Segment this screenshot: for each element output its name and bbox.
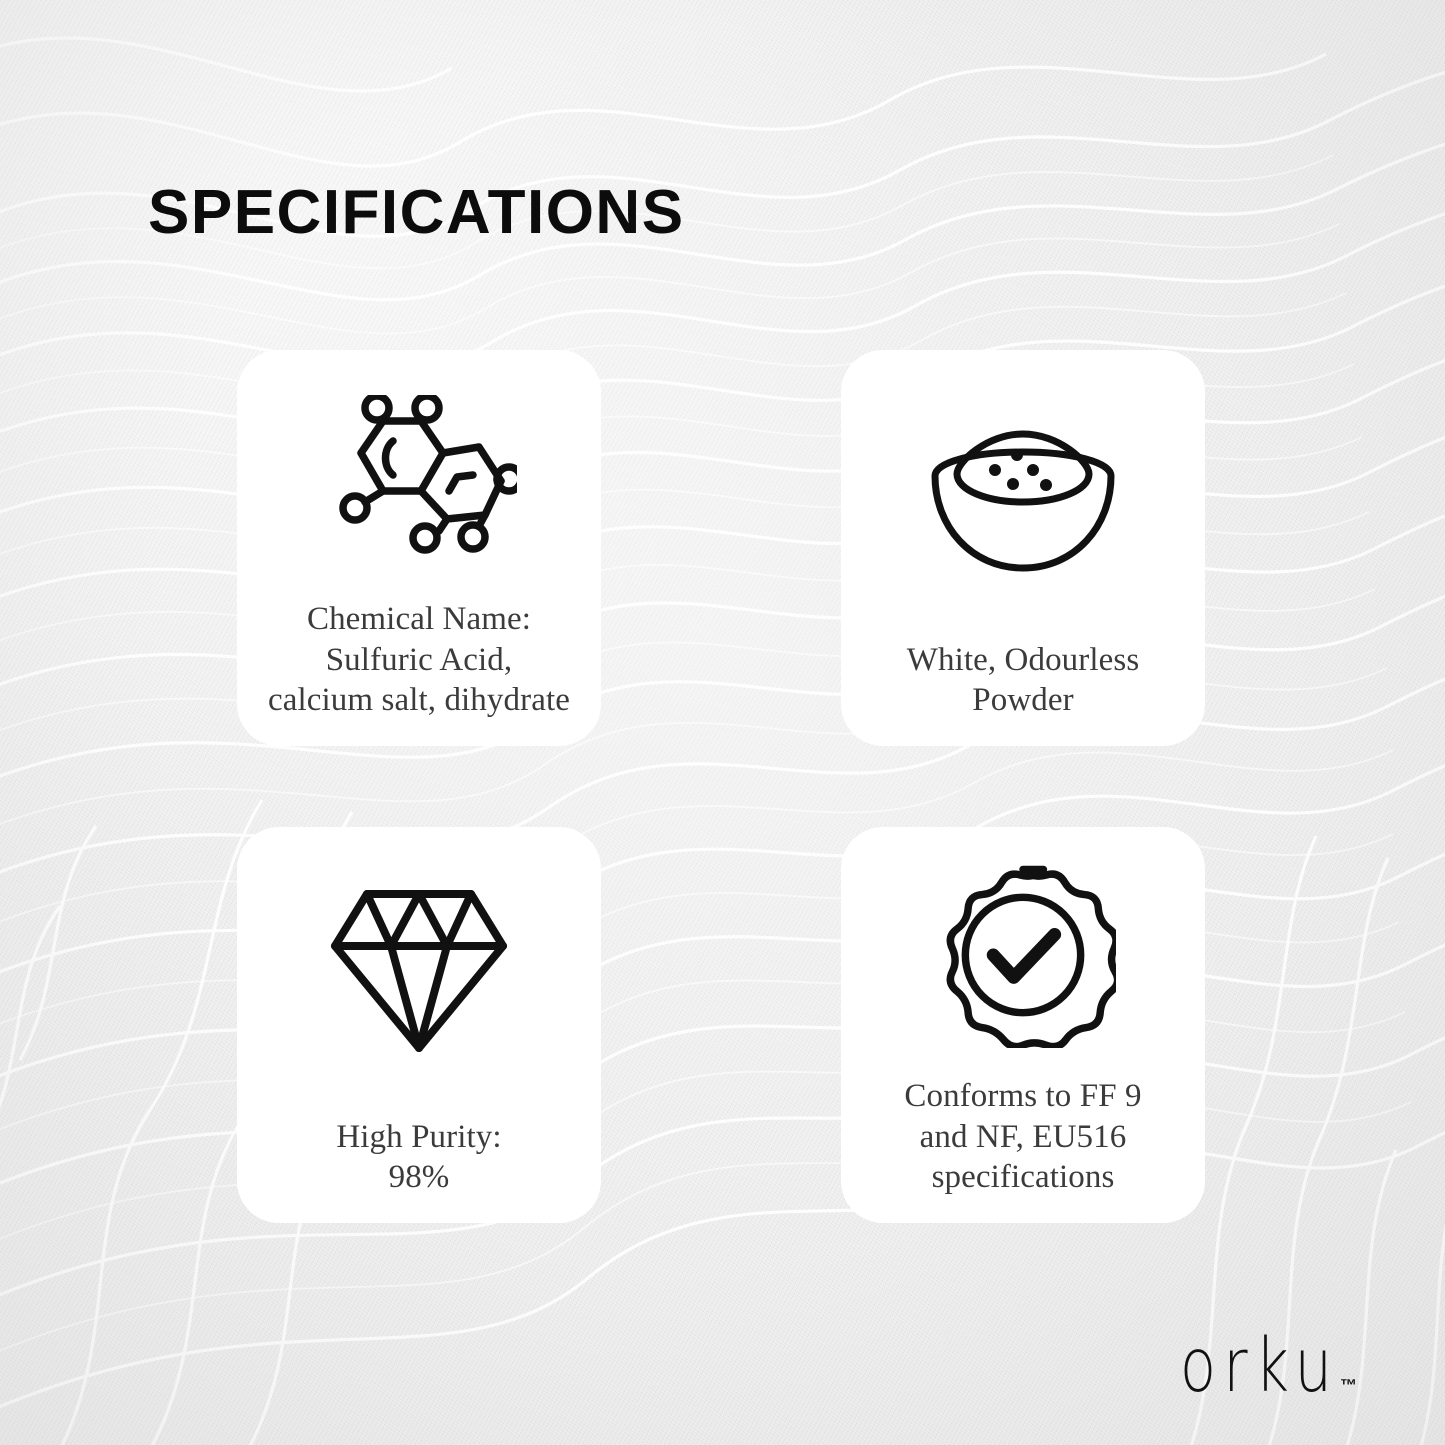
spec-card-purity: High Purity: 98% xyxy=(237,827,601,1223)
spec-card-label: Chemical Name: Sulfuric Acid, calcium sa… xyxy=(251,599,587,720)
powder-bowl-icon xyxy=(855,368,1191,626)
specification-card-grid: Chemical Name: Sulfuric Acid, calcium sa… xyxy=(237,350,1205,1223)
spec-card-label: White, Odourless Powder xyxy=(855,640,1191,721)
brand-logo: orku ™ xyxy=(1140,1329,1357,1403)
brand-wordmark: orku xyxy=(1180,1329,1339,1403)
spec-card-label: Conforms to FF 9 and NF, EU516 specifica… xyxy=(855,1076,1191,1197)
diamond-icon xyxy=(251,845,587,1095)
spec-card-chemical-name: Chemical Name: Sulfuric Acid, calcium sa… xyxy=(237,350,601,746)
page-title: SPECIFICATIONS xyxy=(148,182,685,244)
specifications-page: SPECIFICATIONS xyxy=(0,0,1445,1445)
molecule-icon xyxy=(251,368,587,591)
certified-badge-icon xyxy=(855,845,1191,1064)
spec-card-conformance: Conforms to FF 9 and NF, EU516 specifica… xyxy=(841,827,1205,1223)
spec-card-label: High Purity: 98% xyxy=(251,1117,587,1198)
spec-card-appearance: White, Odourless Powder xyxy=(841,350,1205,746)
trademark-symbol: ™ xyxy=(1340,1377,1357,1394)
